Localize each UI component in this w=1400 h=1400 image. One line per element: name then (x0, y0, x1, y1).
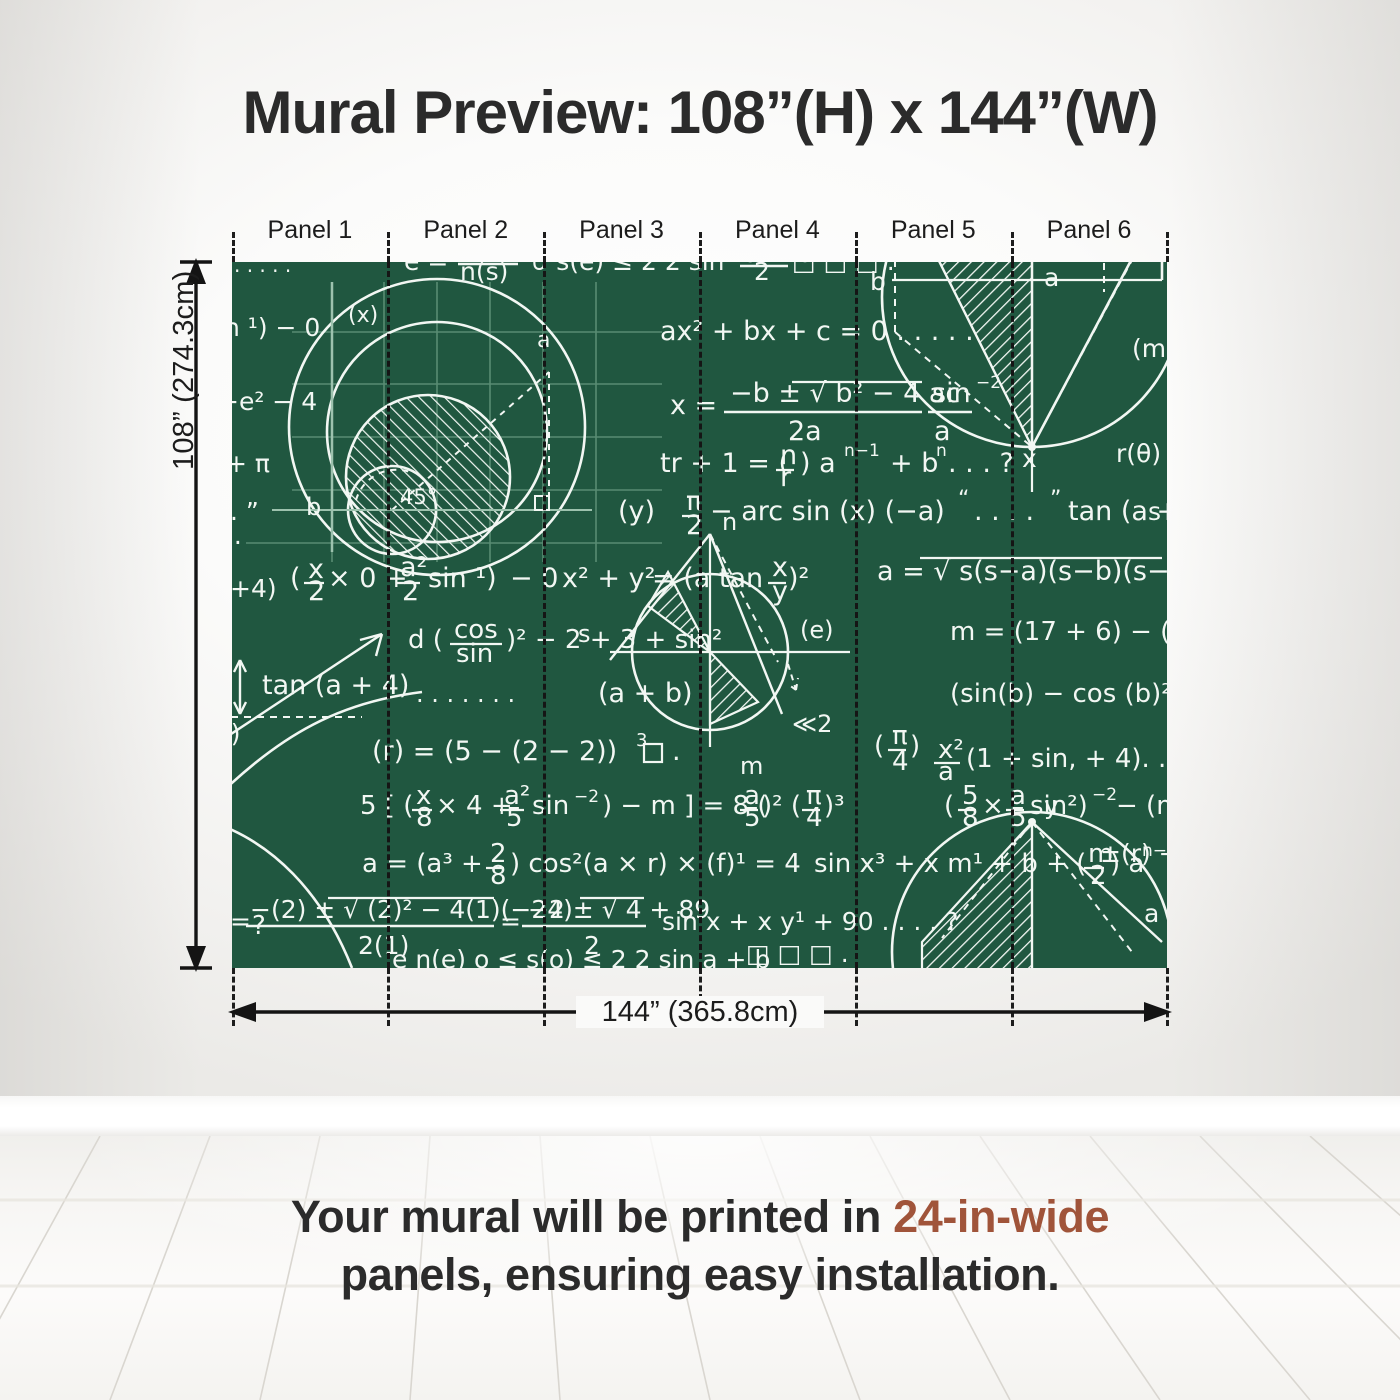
svg-text:r(θ): r(θ) (1116, 439, 1161, 468)
svg-text:5: 5 (506, 803, 523, 833)
svg-text:sin²): sin²) (1030, 791, 1088, 821)
svg-text:y: y (772, 576, 788, 607)
svg-text:) cos²(a × r) × (f)¹ = 4: ) cos²(a × r) × (f)¹ = 4 (510, 849, 801, 879)
svg-text:y: y (1044, 791, 1059, 820)
svg-text:) a: ) a (800, 448, 836, 479)
svg-text:n(s): n(s) (460, 262, 508, 286)
svg-text:(: ( (290, 563, 301, 594)
panel-tick-top-4 (855, 232, 858, 262)
svg-text:s: s (578, 620, 591, 648)
svg-text:n−1: n−1 (844, 441, 880, 461)
svg-text:s =: s = (1148, 497, 1167, 526)
svg-text:□ □ □ .: □ □ □ . (746, 939, 849, 968)
panel-tick-top-5 (1011, 232, 1014, 262)
mural-preview-page: Mural Preview: 108”(H) x 144”(W) Panel 1… (0, 0, 1400, 1400)
svg-text:+ b: + b (890, 448, 938, 479)
svg-text:(1 + sin, + 4). . . . . .: (1 + sin, + 4). . . . . . (966, 744, 1167, 774)
svg-text:(: ( (874, 731, 884, 761)
svg-text:−(2) ± √ (2)² − 4(1)(−24): −(2) ± √ (2)² − 4(1)(−24) (250, 895, 573, 924)
svg-text:) − m ] = 8 (: ) − m ] = 8 ( (602, 791, 767, 821)
panel-divider-5 (1011, 262, 1014, 968)
svg-text:ax² + bx + c = 0 . . . . .: ax² + bx + c = 0 . . . . . (660, 316, 974, 347)
panel-divider-4 (855, 262, 858, 968)
svg-text:±(r) − x: ±(r) − x (1100, 839, 1167, 868)
svg-text:(r) = (5 − (2 − 2)): (r) = (5 − (2 − 2)) (372, 736, 617, 767)
svg-text:x =: x = (670, 390, 717, 421)
svg-text:8: 8 (490, 861, 507, 891)
svg-text:+ π: + π (232, 449, 270, 478)
svg-text:²+4): ²+4) (232, 574, 277, 603)
width-dimension-text: 144” (365.8cm) (576, 996, 825, 1028)
panel-tick-top-6 (1166, 232, 1169, 262)
svg-text:sin: sin (932, 378, 971, 409)
svg-text:− arc sin (x) (−a): − arc sin (x) (−a) (710, 496, 945, 527)
svg-text:(y): (y) (618, 496, 655, 527)
svg-text:x: x (1022, 444, 1037, 473)
svg-text:(x): (x) (348, 303, 378, 328)
panel-tick-top-3 (699, 232, 702, 262)
width-dimension-label: 144” (365.8cm) (0, 996, 1400, 1029)
svg-text:b: b (870, 267, 886, 296)
svg-text:)³: )³ (824, 791, 845, 821)
svg-text:b: b (306, 493, 321, 521)
panel-divider-1 (387, 262, 390, 968)
svg-text:(e): (e) (800, 616, 834, 644)
svg-text:2: 2 (308, 576, 325, 607)
svg-text:(: ( (944, 791, 954, 821)
svg-text:“: “ (958, 487, 969, 512)
panel-label-4: Panel 4 (699, 214, 855, 250)
svg-text:x² + y²: x² + y² (562, 563, 655, 594)
svg-text:a = (a³ +: a = (a³ + (362, 849, 483, 879)
svg-text:sin: sin (532, 791, 569, 821)
svg-text:. .: . . (232, 521, 242, 550)
svg-text:− (m) = 8 (: − (m) = 8 ( (1116, 791, 1167, 821)
panel-divider-2 (543, 262, 546, 968)
svg-text:sin ¹): sin ¹) (428, 563, 497, 594)
svg-text:8: 8 (416, 803, 433, 833)
caption-line-1-prefix: Your mural will be printed in (291, 1191, 893, 1242)
svg-text:5: 5 (744, 803, 761, 833)
footer-caption: Your mural will be printed in 24-in-wide… (0, 1188, 1400, 1304)
height-dimension-label: 108” (274.3cm) (168, 271, 201, 470)
svg-text:m = (17 + 6) − (a − 2) x =: m = (17 + 6) − (a − 2) x = (950, 617, 1167, 647)
wall-shadow-left (0, 0, 200, 1100)
panel-tick-top-0 (232, 232, 235, 262)
svg-text:+e² − 4: +e² − 4 (232, 387, 317, 416)
svg-text:n: n (936, 441, 947, 461)
svg-text:d (: d ( (408, 625, 443, 655)
svg-text:=: = (232, 907, 251, 936)
caption-line-1: Your mural will be printed in 24-in-wide (0, 1188, 1400, 1246)
svg-text:. . . ?: . . . ? (948, 448, 1014, 479)
svg-text:(a + b): (a + b) (598, 678, 693, 709)
svg-text:≪2: ≪2 (792, 710, 832, 738)
svg-text:3: 3 (636, 730, 647, 751)
panel-tick-top-1 (387, 232, 390, 262)
svg-text:n ¹) − 0: n ¹) − 0 (232, 313, 320, 342)
page-title: Mural Preview: 108”(H) x 144”(W) (0, 78, 1400, 147)
svg-text:. . . . . . .: . . . . . . . (416, 680, 515, 708)
caption-line-2: panels, ensuring easy installation. (0, 1246, 1400, 1304)
svg-text:a: a (1144, 899, 1159, 928)
svg-text:. . . . .: . . . . . (234, 262, 291, 277)
panel-label-3: Panel 3 (544, 214, 700, 250)
svg-text:)² (: )² ( (762, 791, 801, 821)
svg-text:e n(e) o ≤ s(o) ≤ 2 2 sin: e n(e) o ≤ s(o) ≤ 2 2 sin a + b (392, 945, 770, 968)
wall-baseboard (0, 1096, 1400, 1138)
svg-text:× 0 +: × 0 + (328, 563, 408, 594)
svg-text:=: = (500, 907, 521, 936)
panel-label-2: Panel 2 (388, 214, 544, 250)
svg-text:tr + 1 = (: tr + 1 = ( (660, 448, 789, 479)
svg-text:?: ? (252, 911, 266, 941)
svg-text:. . . .: . . . . (974, 496, 1034, 527)
svg-text:a = √ s(s−a)(s−b)(s−c) ; m(: a = √ s(s−a)(s−b)(s−c) ; m( (877, 556, 1167, 587)
svg-text:−2: −2 (574, 787, 599, 807)
svg-text:)²: )² (788, 563, 809, 594)
svg-text:”: ” (1050, 487, 1061, 512)
wall-shadow-right (1170, 0, 1400, 1100)
svg-text:4: 4 (806, 803, 823, 833)
svg-text:r: r (780, 462, 792, 493)
svg-text:m: m (740, 752, 763, 780)
svg-text:4: 4 (892, 747, 909, 777)
svg-text:− 0: − 0 (510, 563, 558, 594)
panel-label-1: Panel 1 (232, 214, 388, 250)
svg-text:∪ s(e) ≤ 2 2 sin: ∪ s(e) ≤ 2 2 sin (530, 262, 725, 276)
chalk-angle-45: 45° (400, 485, 437, 509)
svg-text:e =: e = (404, 262, 448, 276)
svg-text:× 4 +: × 4 + (436, 791, 513, 821)
svg-text:.: . (672, 736, 681, 767)
panel-label-5: Panel 5 (855, 214, 1011, 250)
panel-tick-top-2 (543, 232, 546, 262)
svg-text:(m.: (m. (1132, 334, 1167, 363)
panel-label-6: Panel 6 (1011, 214, 1167, 250)
svg-text:−2: −2 (1092, 785, 1117, 805)
svg-text:(sin(b) − cos (b)² = 9 −: (sin(b) − cos (b)² = 9 − (950, 679, 1167, 709)
svg-text:a: a (1044, 263, 1059, 292)
caption-highlight: 24-in-wide (893, 1191, 1109, 1242)
svg-text:n: n (722, 508, 737, 536)
svg-text:): ) (910, 731, 920, 761)
panel-divider-3 (699, 262, 702, 968)
svg-text:sin x + x y¹ + 90 . . . . ?: sin x + x y¹ + 90 . . . . ? (662, 907, 958, 936)
svg-text:a: a (938, 757, 954, 787)
svg-text:2: 2 (402, 576, 419, 607)
